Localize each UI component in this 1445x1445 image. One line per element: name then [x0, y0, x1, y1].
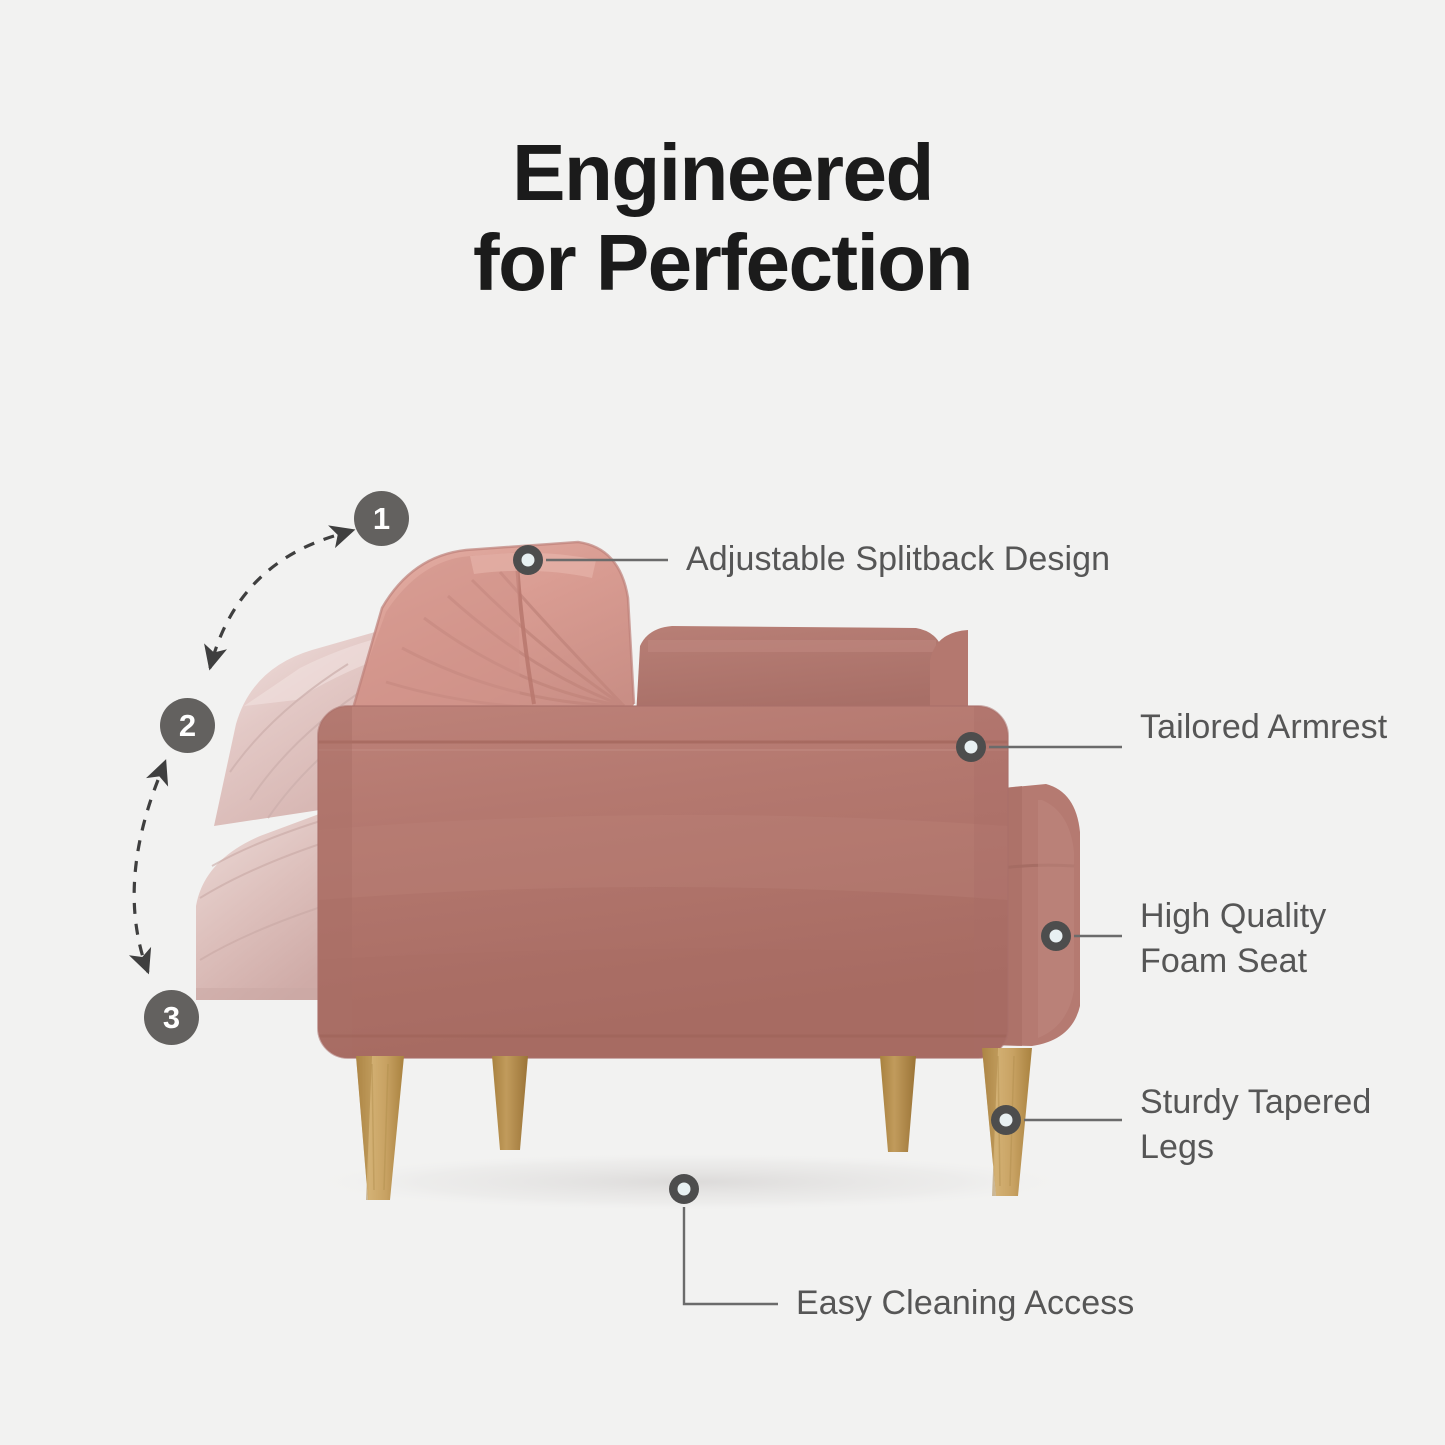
leg-rear-right — [880, 1056, 916, 1152]
infographic-canvas: Engineered for Perfection — [0, 0, 1445, 1445]
step-badge-3[interactable]: 3 — [144, 990, 199, 1045]
sturdy-tapered-legs — [356, 1048, 1032, 1200]
callout-label-high-quality-foam-seat: High Quality Foam Seat — [1140, 894, 1370, 984]
inner-back-panel — [636, 626, 944, 716]
step-badge-1[interactable]: 1 — [354, 491, 409, 546]
title-line-1: Engineered — [0, 128, 1445, 218]
leg-rear-left — [492, 1056, 528, 1150]
step-arrow-2-to-3 — [134, 780, 158, 972]
leg-front-left — [356, 1056, 404, 1200]
marker-adjustable-splitback-design[interactable] — [513, 545, 543, 575]
marker-tailored-armrest[interactable] — [956, 732, 986, 762]
foam-seat-bolster — [952, 784, 1080, 1046]
floor-shadow — [300, 1152, 1080, 1212]
callout-label-adjustable-splitback-design: Adjustable Splitback Design — [686, 537, 1110, 582]
marker-easy-cleaning-access[interactable] — [669, 1174, 699, 1204]
back-upright-block — [930, 630, 968, 718]
step-badge-2[interactable]: 2 — [160, 698, 215, 753]
step-arrow-1-to-2 — [210, 536, 334, 668]
page-title: Engineered for Perfection — [0, 128, 1445, 307]
callout-label-easy-cleaning-access: Easy Cleaning Access — [796, 1281, 1134, 1326]
leg-front-right — [982, 1048, 1032, 1196]
callout-connector-lines — [546, 560, 1122, 1304]
marker-high-quality-foam-seat[interactable] — [1041, 921, 1071, 951]
callout-label-sturdy-tapered-legs: Sturdy Tapered Legs — [1140, 1080, 1372, 1170]
tailored-armrest-panel — [318, 706, 1008, 1058]
light-pink-seat-stack — [196, 626, 404, 1000]
callout-label-tailored-armrest: Tailored Armrest — [1140, 705, 1387, 750]
title-line-2: for Perfection — [0, 218, 1445, 308]
marker-sturdy-tapered-legs[interactable] — [991, 1105, 1021, 1135]
callout-markers — [513, 545, 1071, 1204]
splitback-backrest-cushion — [352, 542, 634, 720]
connector-easy-cleaning-access — [684, 1207, 778, 1304]
